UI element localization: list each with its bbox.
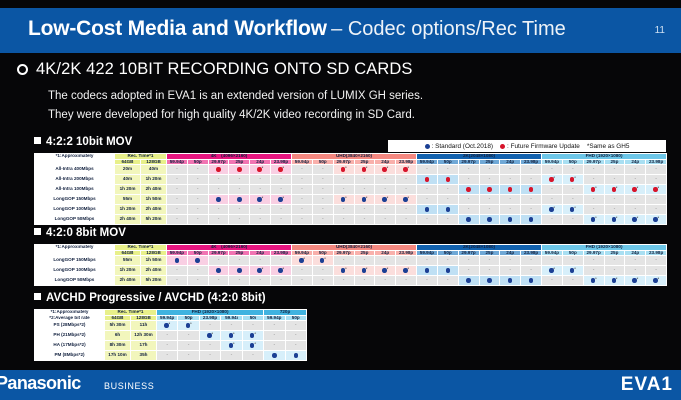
unsupported-cell: - [437, 195, 458, 205]
square-bullet-icon [34, 293, 41, 300]
unsupported-cell: - [646, 165, 667, 175]
unsupported-cell: - [562, 165, 583, 175]
row-label: All-Intra 400Mbps [35, 165, 115, 175]
table-row: LongGOP 50Mbps2h 40m5h 20m--------------… [35, 276, 667, 286]
rec-time-128gb: 5h 20m [141, 215, 167, 225]
dash-marker: - [231, 352, 233, 358]
legend-gh5-note: *Same as GH5 [587, 143, 630, 150]
gh5-star-marker: * [595, 216, 596, 220]
blue-dot-icon [362, 268, 367, 273]
unsupported-cell: - [208, 185, 229, 195]
dash-marker: - [188, 352, 190, 358]
row-label: HA (17Mbps*2) [35, 341, 105, 351]
rec-time-64gb: 17h 10m [105, 351, 131, 361]
unsupported-cell: - [312, 195, 333, 205]
dash-marker: - [468, 206, 470, 212]
unsupported-cell: - [354, 215, 375, 225]
blue-dot-icon [257, 197, 262, 202]
unsupported-cell: - [285, 331, 306, 341]
unsupported-cell: - [250, 205, 271, 215]
blue-dot-icon [508, 278, 513, 283]
support-dot-cell [208, 165, 229, 175]
blue-dot-icon [425, 268, 430, 273]
dash-marker: - [468, 267, 470, 273]
gh5-star-marker: * [408, 166, 409, 170]
gh5-star-marker: * [233, 342, 234, 346]
unsupported-cell: - [167, 195, 188, 205]
rec-time-128gb: 1h 50m [141, 195, 167, 205]
dash-marker: - [364, 206, 366, 212]
gh5-star-marker: * [554, 176, 555, 180]
blue-dot-icon [382, 197, 387, 202]
blue-dot-icon [216, 197, 221, 202]
support-dot-cell: * [242, 331, 263, 341]
unsupported-cell: - [271, 256, 292, 266]
support-dot-cell [417, 205, 438, 215]
dash-marker: - [176, 267, 178, 273]
unsupported-cell: - [396, 276, 417, 286]
dash-marker: - [551, 186, 553, 192]
slide: Low-Cost Media and Workflow – Codec opti… [0, 0, 681, 400]
blue-dot-icon [591, 278, 596, 283]
dash-marker: - [426, 166, 428, 172]
unsupported-cell: - [521, 175, 542, 185]
gh5-star-marker: * [554, 267, 555, 271]
dash-marker: - [614, 176, 616, 182]
page-title: Low-Cost Media and Workflow [28, 17, 327, 40]
red-dot-icon [466, 187, 471, 192]
unsupported-cell: - [479, 256, 500, 266]
blue-dot-icon [632, 278, 637, 283]
row-label: All-Intra 200Mbps [35, 175, 115, 185]
dash-marker: - [239, 257, 241, 263]
blue-dot-icon [175, 258, 180, 263]
dash-marker: - [166, 352, 168, 358]
dash-marker: - [426, 277, 428, 283]
unsupported-cell: - [312, 215, 333, 225]
unsupported-cell: - [583, 195, 604, 205]
dash-marker: - [530, 206, 532, 212]
dash-marker: - [301, 186, 303, 192]
dash-marker: - [322, 186, 324, 192]
dash-marker: - [614, 267, 616, 273]
unsupported-cell: - [646, 266, 667, 276]
row-label: LongGOP 50Mbps [35, 215, 115, 225]
dash-marker: - [634, 257, 636, 263]
dash-marker: - [447, 216, 449, 222]
unsupported-cell: - [562, 256, 583, 266]
blue-dot-icon [591, 217, 596, 222]
support-dot-cell [458, 276, 479, 286]
support-dot-cell: * [604, 185, 625, 195]
unsupported-cell: - [604, 195, 625, 205]
unsupported-cell: - [242, 321, 263, 331]
unsupported-cell: - [521, 205, 542, 215]
unsupported-cell: - [396, 256, 417, 266]
support-dot-cell: * [396, 266, 417, 276]
dash-marker: - [218, 277, 220, 283]
dash-marker: - [259, 206, 261, 212]
unsupported-cell: - [157, 351, 178, 361]
support-dot-cell: * [271, 266, 292, 276]
body-line-2: They were developed for high quality 4K/… [48, 109, 415, 121]
blue-dot-icon [529, 217, 534, 222]
dash-marker: - [468, 196, 470, 202]
unsupported-cell: - [562, 195, 583, 205]
dash-marker: - [634, 196, 636, 202]
unsupported-cell: - [417, 256, 438, 266]
dash-marker: - [593, 257, 595, 263]
unsupported-cell: - [199, 351, 220, 361]
blue-dot-icon [653, 278, 658, 283]
blue-dot-icon [425, 207, 430, 212]
gh5-star-marker: * [616, 186, 617, 190]
support-dot-cell: * [583, 276, 604, 286]
gh5-star-marker: * [408, 267, 409, 271]
blue-dot-icon [250, 333, 255, 338]
unsupported-cell: - [199, 321, 220, 331]
unsupported-cell: - [417, 195, 438, 205]
dash-marker: - [197, 216, 199, 222]
unsupported-cell: - [187, 205, 208, 215]
table2-caption: 4:2:0 8bit MOV [34, 227, 126, 239]
legend-standard-label: : Standard (Oct.2018) [432, 143, 493, 150]
support-dot-cell [479, 185, 500, 195]
rec-time-128gb: 2h 40m [141, 266, 167, 276]
unsupported-cell: - [229, 215, 250, 225]
dash-marker: - [280, 216, 282, 222]
rec-time-64gb: 1h 20m [115, 185, 141, 195]
support-dot-cell: * [271, 165, 292, 175]
unsupported-cell: - [354, 205, 375, 215]
unsupported-cell: - [292, 215, 313, 225]
red-dot-icon [632, 187, 637, 192]
table3-caption: AVCHD Progressive / AVCHD (4:2:0 8bit) [34, 292, 266, 304]
unsupported-cell: - [542, 276, 563, 286]
dash-marker: - [489, 166, 491, 172]
blue-dot-icon [612, 217, 617, 222]
red-dot-icon [570, 177, 575, 182]
support-dot-cell: * [242, 341, 263, 351]
support-dot-cell: * [625, 276, 646, 286]
unsupported-cell: - [167, 175, 188, 185]
blue-dot-icon [216, 268, 221, 273]
unsupported-cell: - [458, 165, 479, 175]
gh5-star-marker: * [387, 267, 388, 271]
support-dot-cell: * [542, 205, 563, 215]
dash-marker: - [280, 277, 282, 283]
unsupported-cell: - [229, 276, 250, 286]
unsupported-cell: - [375, 276, 396, 286]
row-label: PS (28Mbps*2) [35, 321, 105, 331]
unsupported-cell: - [542, 256, 563, 266]
slide-footer: Panasonic BUSINESS EVA1 [0, 370, 681, 400]
unsupported-cell: - [583, 205, 604, 215]
panasonic-business-label: BUSINESS [104, 381, 154, 391]
dash-marker: - [295, 332, 297, 338]
legend-standard: : Standard (Oct.2018) [425, 143, 493, 150]
unsupported-cell: - [157, 341, 178, 351]
support-dot-cell [437, 175, 458, 185]
dash-marker: - [301, 267, 303, 273]
rec-time-128gb: 12h 30m [131, 331, 157, 341]
dash-marker: - [343, 206, 345, 212]
gh5-star-marker: * [304, 257, 305, 261]
unsupported-cell: - [229, 175, 250, 185]
table-row: LongGOP 150Mbps55m1h 50m--**--****------… [35, 195, 667, 205]
unsupported-cell: - [167, 165, 188, 175]
eva1-logo: EVA1 [621, 374, 673, 396]
support-dot-cell: * [625, 185, 646, 195]
gh5-star-marker: * [366, 196, 367, 200]
unsupported-cell: - [271, 175, 292, 185]
support-dot-cell [500, 276, 521, 286]
support-dot-cell: * [396, 195, 417, 205]
unsupported-cell: - [292, 175, 313, 185]
dash-marker: - [166, 332, 168, 338]
dash-marker: - [405, 257, 407, 263]
red-dot-icon [487, 187, 492, 192]
support-dot-cell [417, 266, 438, 276]
table2-caption-label: 4:2:0 8bit MOV [46, 227, 126, 239]
row-label: All-Intra 100Mbps [35, 185, 115, 195]
dash-marker: - [301, 166, 303, 172]
dash-marker: - [572, 216, 574, 222]
dash-marker: - [530, 196, 532, 202]
blue-dot-icon [382, 268, 387, 273]
support-dot-cell [521, 276, 542, 286]
unsupported-cell: - [583, 175, 604, 185]
support-dot-cell: * [157, 321, 178, 331]
dash-marker: - [252, 322, 254, 328]
legend: : Standard (Oct.2018) : Future Firmware … [388, 140, 666, 152]
unsupported-cell: - [437, 276, 458, 286]
support-dot-cell: * [354, 165, 375, 175]
blue-dot-icon [299, 258, 304, 263]
dash-marker: - [655, 257, 657, 263]
blue-dot-icon [446, 268, 451, 273]
support-dot-cell: * [250, 195, 271, 205]
unsupported-cell: - [479, 195, 500, 205]
dash-marker: - [176, 166, 178, 172]
row-label: LongGOP 100Mbps [35, 205, 115, 215]
unsupported-cell: - [542, 215, 563, 225]
rec-time-64gb: 1h 20m [115, 266, 141, 276]
dash-marker: - [176, 206, 178, 212]
table3-caption-label: AVCHD Progressive / AVCHD (4:2:0 8bit) [46, 292, 266, 304]
unsupported-cell: - [264, 341, 285, 351]
dash-marker: - [614, 206, 616, 212]
unsupported-cell: - [333, 185, 354, 195]
unsupported-cell: - [479, 266, 500, 276]
rec-time-128gb: 2h 40m [141, 205, 167, 215]
blue-dot-icon [403, 268, 408, 273]
unsupported-cell: - [625, 205, 646, 215]
dash-marker: - [614, 166, 616, 172]
gh5-star-marker: * [658, 277, 659, 281]
table-row: All-Intra 400Mbps20m40m--**--****-------… [35, 165, 667, 175]
unsupported-cell: - [242, 351, 263, 361]
gh5-star-marker: * [616, 277, 617, 281]
blue-dot-icon [653, 217, 658, 222]
dash-marker: - [301, 216, 303, 222]
support-dot-cell: * [199, 331, 220, 341]
table-row: LongGOP 100Mbps1h 20m2h 40m-------------… [35, 205, 667, 215]
unsupported-cell: - [375, 175, 396, 185]
page-subtitle: – Codec options/Rec Time [331, 18, 566, 40]
dash-marker: - [218, 176, 220, 182]
unsupported-cell: - [437, 185, 458, 195]
support-dot-cell [167, 256, 188, 266]
dash-marker: - [197, 196, 199, 202]
support-dot-cell: * [375, 195, 396, 205]
dash-marker: - [218, 216, 220, 222]
dash-marker: - [655, 206, 657, 212]
dash-marker: - [405, 206, 407, 212]
support-dot-cell [500, 215, 521, 225]
dash-marker: - [274, 322, 276, 328]
unsupported-cell: - [396, 185, 417, 195]
red-dot-icon [257, 167, 262, 172]
dash-marker: - [593, 196, 595, 202]
rec-time-64gb: 55m [115, 256, 141, 266]
gh5-star-marker: * [574, 206, 575, 210]
gh5-star-marker: * [254, 332, 255, 336]
legend-red-dot-icon [500, 144, 505, 149]
unsupported-cell: - [646, 195, 667, 205]
blue-dot-icon [508, 217, 513, 222]
unsupported-cell: - [354, 175, 375, 185]
blue-dot-icon [341, 197, 346, 202]
dash-marker: - [322, 216, 324, 222]
unsupported-cell: - [521, 165, 542, 175]
dash-marker: - [176, 186, 178, 192]
gh5-star-marker: * [616, 216, 617, 220]
blue-dot-icon [195, 258, 200, 263]
support-dot-cell: * [604, 276, 625, 286]
red-dot-icon [591, 187, 596, 192]
dash-marker: - [197, 267, 199, 273]
dash-marker: - [405, 277, 407, 283]
dash-marker: - [259, 257, 261, 263]
dash-marker: - [301, 196, 303, 202]
support-dot-cell: * [562, 175, 583, 185]
gh5-star-marker: * [658, 186, 659, 190]
dash-marker: - [364, 216, 366, 222]
unsupported-cell: - [500, 205, 521, 215]
unsupported-cell: - [312, 175, 333, 185]
support-dot-cell: * [542, 175, 563, 185]
support-dot-cell: * [604, 215, 625, 225]
gh5-star-marker: * [595, 186, 596, 190]
codec-table-420-8bit: *1:ApproximatelyRec. Time*14K (4096×2160… [34, 244, 667, 286]
dash-marker: - [509, 206, 511, 212]
unsupported-cell: - [646, 205, 667, 215]
dash-marker: - [634, 176, 636, 182]
unsupported-cell: - [187, 165, 208, 175]
unsupported-cell: - [375, 205, 396, 215]
support-dot-cell: * [646, 185, 667, 195]
red-dot-icon [508, 187, 513, 192]
dash-marker: - [447, 257, 449, 263]
dash-marker: - [322, 267, 324, 273]
dash-marker: - [188, 342, 190, 348]
support-dot-cell: * [354, 266, 375, 276]
title-group: Low-Cost Media and Workflow – Codec opti… [28, 17, 566, 41]
unsupported-cell: - [604, 165, 625, 175]
table-row: LongGOP 50Mbps2h 40m5h 20m--------------… [35, 215, 667, 225]
dash-marker: - [447, 277, 449, 283]
blue-dot-icon [466, 217, 471, 222]
blue-dot-icon [487, 278, 492, 283]
blue-dot-icon [278, 197, 283, 202]
dash-marker: - [509, 257, 511, 263]
support-dot-cell [417, 175, 438, 185]
unsupported-cell: - [562, 215, 583, 225]
unsupported-cell: - [458, 256, 479, 266]
dash-marker: - [405, 216, 407, 222]
support-dot-cell: * [221, 331, 242, 341]
unsupported-cell: - [167, 215, 188, 225]
unsupported-cell: - [167, 205, 188, 215]
red-dot-icon [653, 187, 658, 192]
unsupported-cell: - [250, 175, 271, 185]
blue-dot-icon [570, 268, 575, 273]
dash-marker: - [405, 176, 407, 182]
dash-marker: - [364, 176, 366, 182]
dash-marker: - [176, 277, 178, 283]
blue-dot-icon [632, 217, 637, 222]
rec-time-64gb: 20m [115, 165, 141, 175]
dash-marker: - [530, 257, 532, 263]
blue-dot-icon [466, 278, 471, 283]
blue-dot-icon [272, 353, 277, 358]
unsupported-cell: - [229, 256, 250, 266]
rec-time-64gb: 5h 30m [105, 321, 131, 331]
dash-marker: - [384, 216, 386, 222]
dash-marker: - [188, 332, 190, 338]
dash-marker: - [468, 257, 470, 263]
unsupported-cell: - [333, 276, 354, 286]
unsupported-cell: - [292, 185, 313, 195]
support-dot-cell [500, 185, 521, 195]
dash-marker: - [239, 216, 241, 222]
gh5-star-marker: * [169, 322, 170, 326]
unsupported-cell: - [208, 276, 229, 286]
dash-marker: - [489, 176, 491, 182]
dash-marker: - [405, 186, 407, 192]
red-dot-icon [446, 177, 451, 182]
gh5-star-marker: * [190, 322, 191, 326]
dash-marker: - [614, 257, 616, 263]
gh5-star-marker: * [345, 166, 346, 170]
gh5-star-marker: * [283, 196, 284, 200]
red-dot-icon [278, 167, 283, 172]
unsupported-cell: - [604, 175, 625, 185]
unsupported-cell: - [271, 185, 292, 195]
dash-marker: - [259, 186, 261, 192]
dash-marker: - [176, 196, 178, 202]
unsupported-cell: - [458, 205, 479, 215]
dash-marker: - [322, 176, 324, 182]
unsupported-cell: - [167, 276, 188, 286]
gh5-star-marker: * [387, 196, 388, 200]
unsupported-cell: - [312, 276, 333, 286]
dash-marker: - [301, 277, 303, 283]
unsupported-cell: - [208, 256, 229, 266]
rec-time-128gb: 40m [141, 165, 167, 175]
unsupported-cell: - [187, 195, 208, 205]
